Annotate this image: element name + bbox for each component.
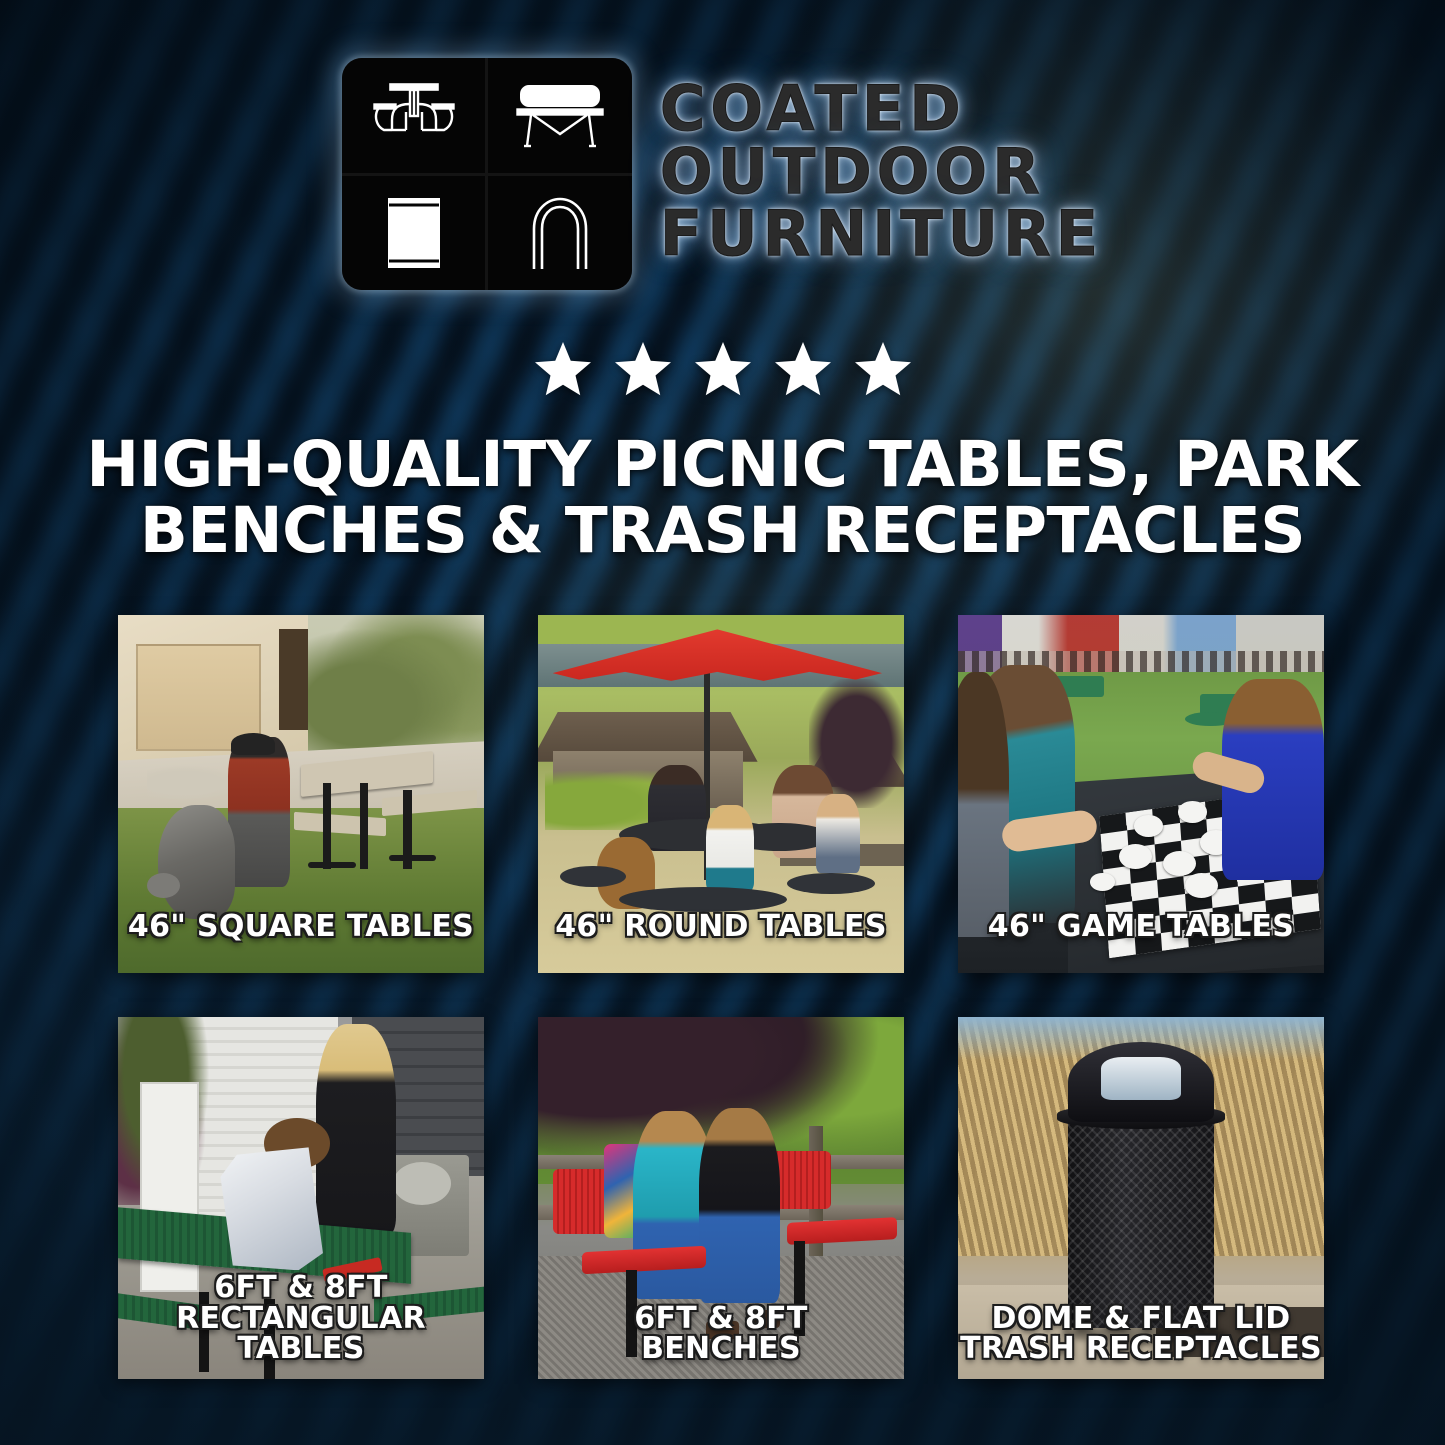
star-icon <box>532 340 594 400</box>
bench-table-side-icon <box>488 58 632 173</box>
brand-word-1: COATED <box>660 79 966 140</box>
bike-rack-arch-icon <box>488 176 632 291</box>
brand-logo: COATED OUTDOOR FURNITURE <box>0 58 1445 290</box>
product-caption: 46" SQUARE TABLES <box>118 912 484 943</box>
headline-line-1: HIGH-QUALITY PICNIC TABLES, PARK <box>60 432 1385 498</box>
product-caption: DOME & FLAT LID TRASH RECEPTACLES <box>958 1304 1324 1365</box>
star-rating <box>0 340 1445 400</box>
product-card-square-tables[interactable]: 46" SQUARE TABLES <box>118 615 484 973</box>
star-icon <box>852 340 914 400</box>
product-card-rectangular-tables[interactable]: 6FT & 8FT RECTANGULAR TABLES <box>118 1017 484 1379</box>
product-card-round-tables[interactable]: 46" ROUND TABLES <box>538 615 904 973</box>
headline-line-2: BENCHES & TRASH RECEPTACLES <box>60 498 1385 564</box>
page-title: HIGH-QUALITY PICNIC TABLES, PARK BENCHES… <box>60 432 1385 564</box>
star-icon <box>772 340 834 400</box>
banner-content: COATED OUTDOOR FURNITURE HIGH-QUALITY PI… <box>0 0 1445 1445</box>
product-caption: 6FT & 8FT RECTANGULAR TABLES <box>118 1273 484 1365</box>
product-card-game-tables[interactable]: 46" GAME TABLES <box>958 615 1324 973</box>
brand-word-3: FURNITURE <box>660 204 1103 265</box>
picnic-table-icon <box>342 58 486 173</box>
product-grid: 46" SQUARE TABLES 46" ROUND TABLES <box>118 615 1326 1379</box>
star-icon <box>612 340 674 400</box>
logo-icon-grid <box>342 58 632 290</box>
product-card-trash-receptacles[interactable]: DOME & FLAT LID TRASH RECEPTACLES <box>958 1017 1324 1379</box>
trash-receptacle-icon <box>342 176 486 291</box>
brand-word-2: OUTDOOR <box>660 142 1045 203</box>
product-caption: 6FT & 8FT BENCHES <box>538 1304 904 1365</box>
product-caption: 46" GAME TABLES <box>958 912 1324 943</box>
brand-wordmark: COATED OUTDOOR FURNITURE <box>660 79 1103 269</box>
product-caption: 46" ROUND TABLES <box>538 912 904 943</box>
product-card-benches[interactable]: 6FT & 8FT BENCHES <box>538 1017 904 1379</box>
star-icon <box>692 340 754 400</box>
